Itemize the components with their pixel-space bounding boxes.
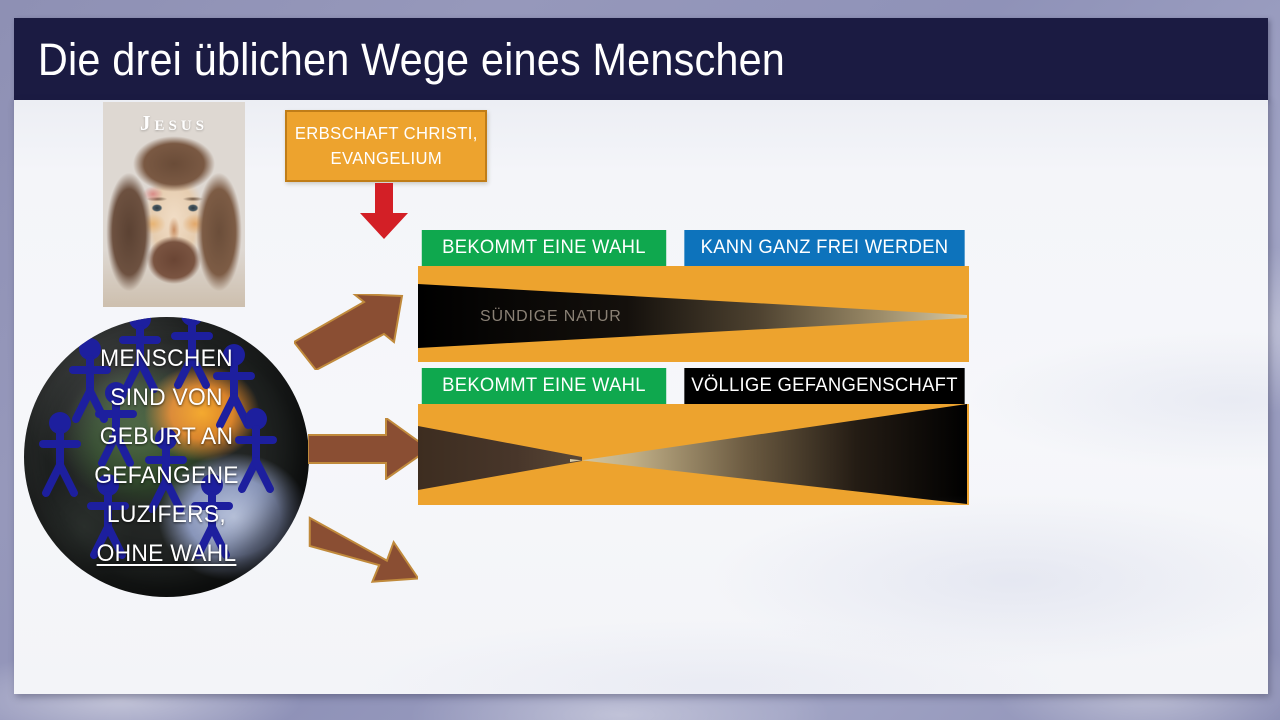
outcome-panel-captivity: BEKOMMT EINE WAHL VÖLLIGE GEFANGENSCHAFT (418, 368, 969, 505)
panel-two-header-row: BEKOMMT EINE WAHL VÖLLIGE GEFANGENSCHAFT (418, 368, 969, 404)
globe-line-2: SIND VON (31, 378, 302, 417)
page-title: Die drei üblichen Wege eines Menschen (14, 34, 785, 86)
arrow-right-icon (308, 418, 430, 480)
erbschaft-text: ERBSCHAFT CHRISTI, EVANGELIUM (295, 121, 478, 171)
panel-one-body: SÜNDIGE NATUR (418, 266, 969, 362)
globe-caption: MENSCHEN SIND VON GEBURT AN GEFANGENE LU… (31, 339, 302, 573)
globe-of-captive-humanity: MENSCHEN SIND VON GEBURT AN GEFANGENE LU… (24, 317, 309, 597)
erbschaft-line-2: EVANGELIUM (330, 148, 442, 168)
outcome-panel-freedom: BEKOMMT EINE WAHL KANN GANZ FREI WERDEN (418, 230, 969, 362)
jesus-portrait-card: Jesus (103, 102, 245, 307)
panel-one-outcome-badge: KANN GANZ FREI WERDEN (684, 230, 964, 266)
panel-two-body (418, 404, 969, 505)
panel-one-choice-badge: BEKOMMT EINE WAHL (422, 230, 666, 266)
panel-two-outcome-badge: VÖLLIGE GEFANGENSCHAFT (684, 368, 964, 404)
globe-line-4: GEFANGENE (31, 456, 302, 495)
panel-two-wedge (418, 404, 969, 505)
erbschaft-line-1: ERBSCHAFT CHRISTI, (295, 123, 478, 143)
globe-line-3: GEBURT AN (31, 417, 302, 456)
red-down-arrow-icon (359, 183, 409, 240)
arrow-down-right-icon (308, 504, 418, 584)
panel-one-header-gap (670, 230, 680, 266)
erbschaft-christi-box: ERBSCHAFT CHRISTI, EVANGELIUM (285, 110, 487, 182)
slide-canvas: Jesus ERBSCHAFT CHRISTI, EVANGELIUM (14, 100, 1268, 694)
globe-line-6: OHNE WAHL (31, 534, 302, 573)
jesus-label: Jesus (103, 111, 245, 136)
slide-stage: Die drei üblichen Wege eines Menschen Je… (0, 0, 1280, 720)
globe-line-1: MENSCHEN (31, 339, 302, 378)
panel-one-wedge-label: SÜNDIGE NATUR (480, 308, 622, 326)
slide-title-bar: Die drei üblichen Wege eines Menschen (14, 18, 1268, 102)
panel-one-header-row: BEKOMMT EINE WAHL KANN GANZ FREI WERDEN (418, 230, 969, 266)
panel-two-header-gap (670, 368, 680, 404)
globe-line-5: LUZIFERS, (31, 495, 302, 534)
arrow-up-right-icon (294, 294, 404, 370)
panel-two-choice-badge: BEKOMMT EINE WAHL (422, 368, 666, 404)
